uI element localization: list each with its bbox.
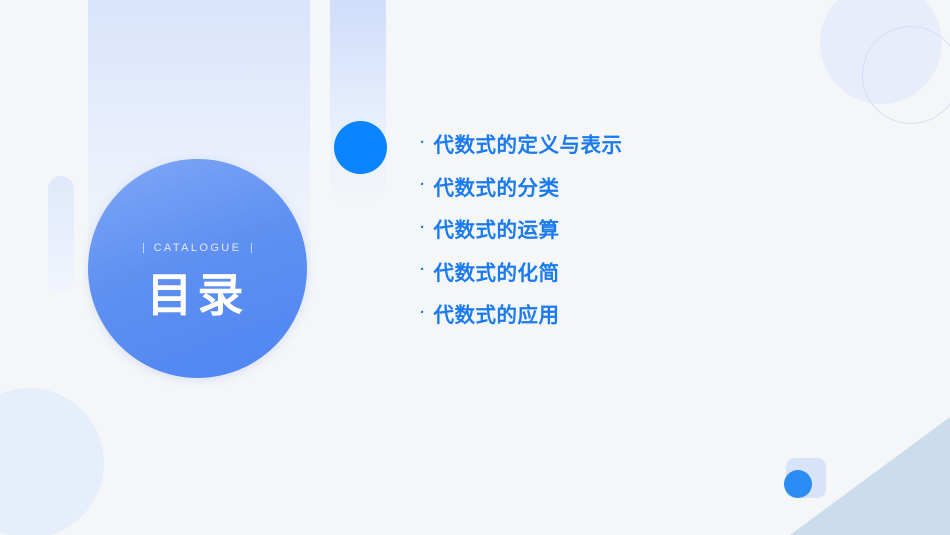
bullet-icon: ·: [420, 220, 426, 235]
background-triangle-bottom-right: [790, 417, 950, 535]
toc-item-label: 代数式的分类: [434, 171, 560, 201]
background-band-narrow: [330, 0, 386, 210]
tick-right-icon: [251, 243, 252, 253]
toc-item-5[interactable]: · 代数式的应用: [420, 292, 860, 335]
background-ring-top-right: [862, 26, 950, 124]
background-pill-left: [48, 176, 74, 294]
table-of-contents: · 代数式的定义与表示 · 代数式的分类 · 代数式的运算 · 代数式的化简 ·…: [420, 122, 860, 335]
catalogue-subtitle-row: CATALOGUE: [143, 242, 253, 254]
accent-dot-icon: [334, 121, 387, 174]
bullet-icon: ·: [420, 177, 426, 192]
catalogue-circle: CATALOGUE 目录: [88, 159, 307, 378]
slide-root: CATALOGUE 目录 · 代数式的定义与表示 · 代数式的分类 · 代数式的…: [0, 0, 950, 535]
bullet-icon: ·: [420, 305, 426, 320]
background-circle-lower-left: [0, 388, 104, 535]
tick-left-icon: [143, 243, 144, 253]
toc-item-label: 代数式的应用: [434, 298, 560, 328]
toc-item-3[interactable]: · 代数式的运算: [420, 207, 860, 250]
bullet-icon: ·: [420, 135, 426, 150]
toc-item-label: 代数式的运算: [434, 213, 560, 243]
bullet-icon: ·: [420, 262, 426, 277]
catalogue-title: 目录: [147, 272, 249, 318]
toc-item-2[interactable]: · 代数式的分类: [420, 165, 860, 208]
toc-item-4[interactable]: · 代数式的化简: [420, 250, 860, 293]
toc-item-label: 代数式的定义与表示: [434, 128, 623, 158]
toc-item-label: 代数式的化简: [434, 256, 560, 286]
catalogue-subtitle: CATALOGUE: [154, 242, 242, 254]
toc-item-1[interactable]: · 代数式的定义与表示: [420, 122, 860, 165]
